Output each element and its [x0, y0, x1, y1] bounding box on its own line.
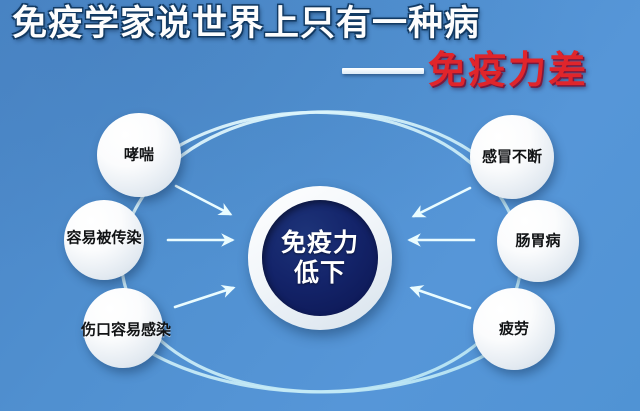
node-easily-infected-label: 容易被传染	[66, 230, 141, 247]
hub-label-line-2: 低下	[294, 258, 346, 288]
arrow-wounds-to-center	[175, 288, 233, 307]
immune-deficiency-hub[interactable]: 免疫力 低下	[248, 186, 392, 330]
hub-label-line-1: 免疫力	[281, 228, 359, 258]
arrow-asthma-to-center	[176, 186, 230, 214]
node-fatigue-label: 疲劳	[499, 321, 529, 338]
arrow-colds-to-center	[414, 188, 470, 216]
arrow-fatigue-to-center	[412, 288, 470, 308]
node-wounds-infected-label: 伤口容易感染	[81, 322, 171, 339]
node-asthma-label: 哮喘	[124, 147, 154, 164]
node-gastrointestinal-disease-label: 肠胃病	[515, 233, 560, 250]
diagram-canvas: 免疫学家说世界上只有一种病 免疫力差	[0, 0, 640, 411]
hub-inner-disc: 免疫力 低下	[262, 200, 378, 316]
node-constant-colds-label: 感冒不断	[482, 149, 542, 166]
